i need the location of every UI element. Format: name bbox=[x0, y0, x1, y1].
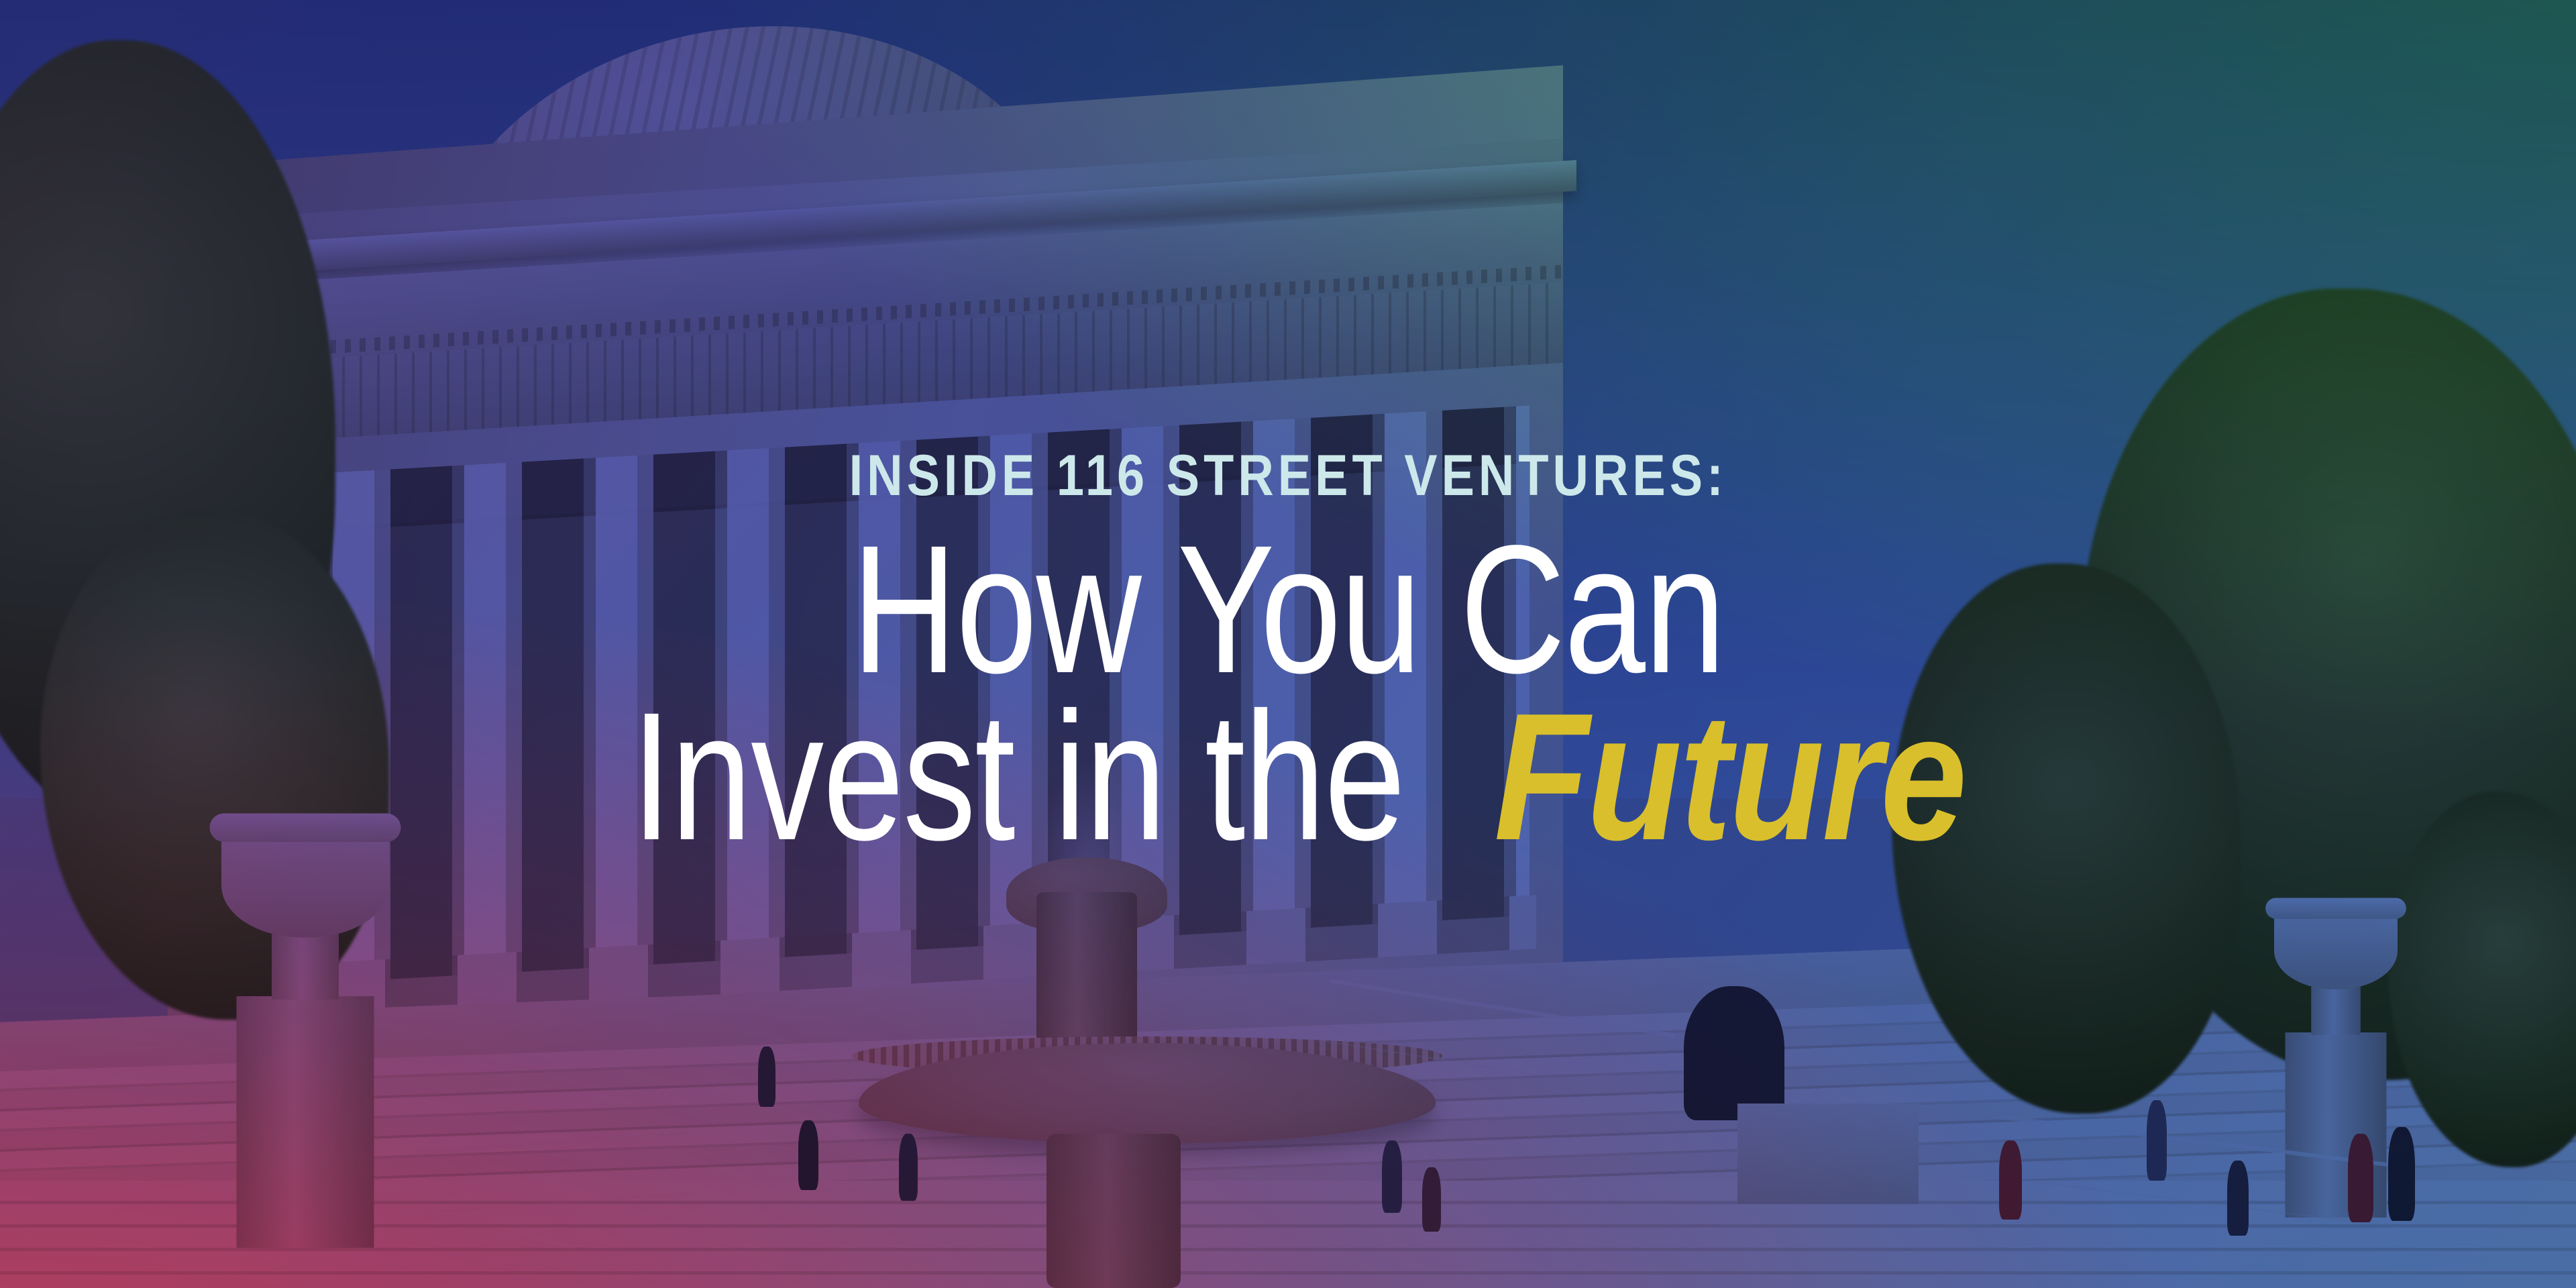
headline-accent-word: Future bbox=[1494, 696, 1965, 859]
headline-line-2: Invest in the Future bbox=[535, 694, 2042, 859]
hero-banner: INSIDE 116 STREET VENTURES: How You Can … bbox=[0, 0, 2576, 1288]
eyebrow-text: INSIDE 116 STREET VENTURES: bbox=[849, 447, 1727, 504]
headline-line-1: How You Can bbox=[535, 527, 2042, 692]
hero-content: INSIDE 116 STREET VENTURES: How You Can … bbox=[0, 0, 2576, 1288]
page-title: How You Can Invest in the Future bbox=[535, 527, 2042, 859]
headline-line-1-text: How You Can bbox=[851, 527, 1724, 692]
headline-line-2-text: Invest in the bbox=[631, 694, 1405, 859]
